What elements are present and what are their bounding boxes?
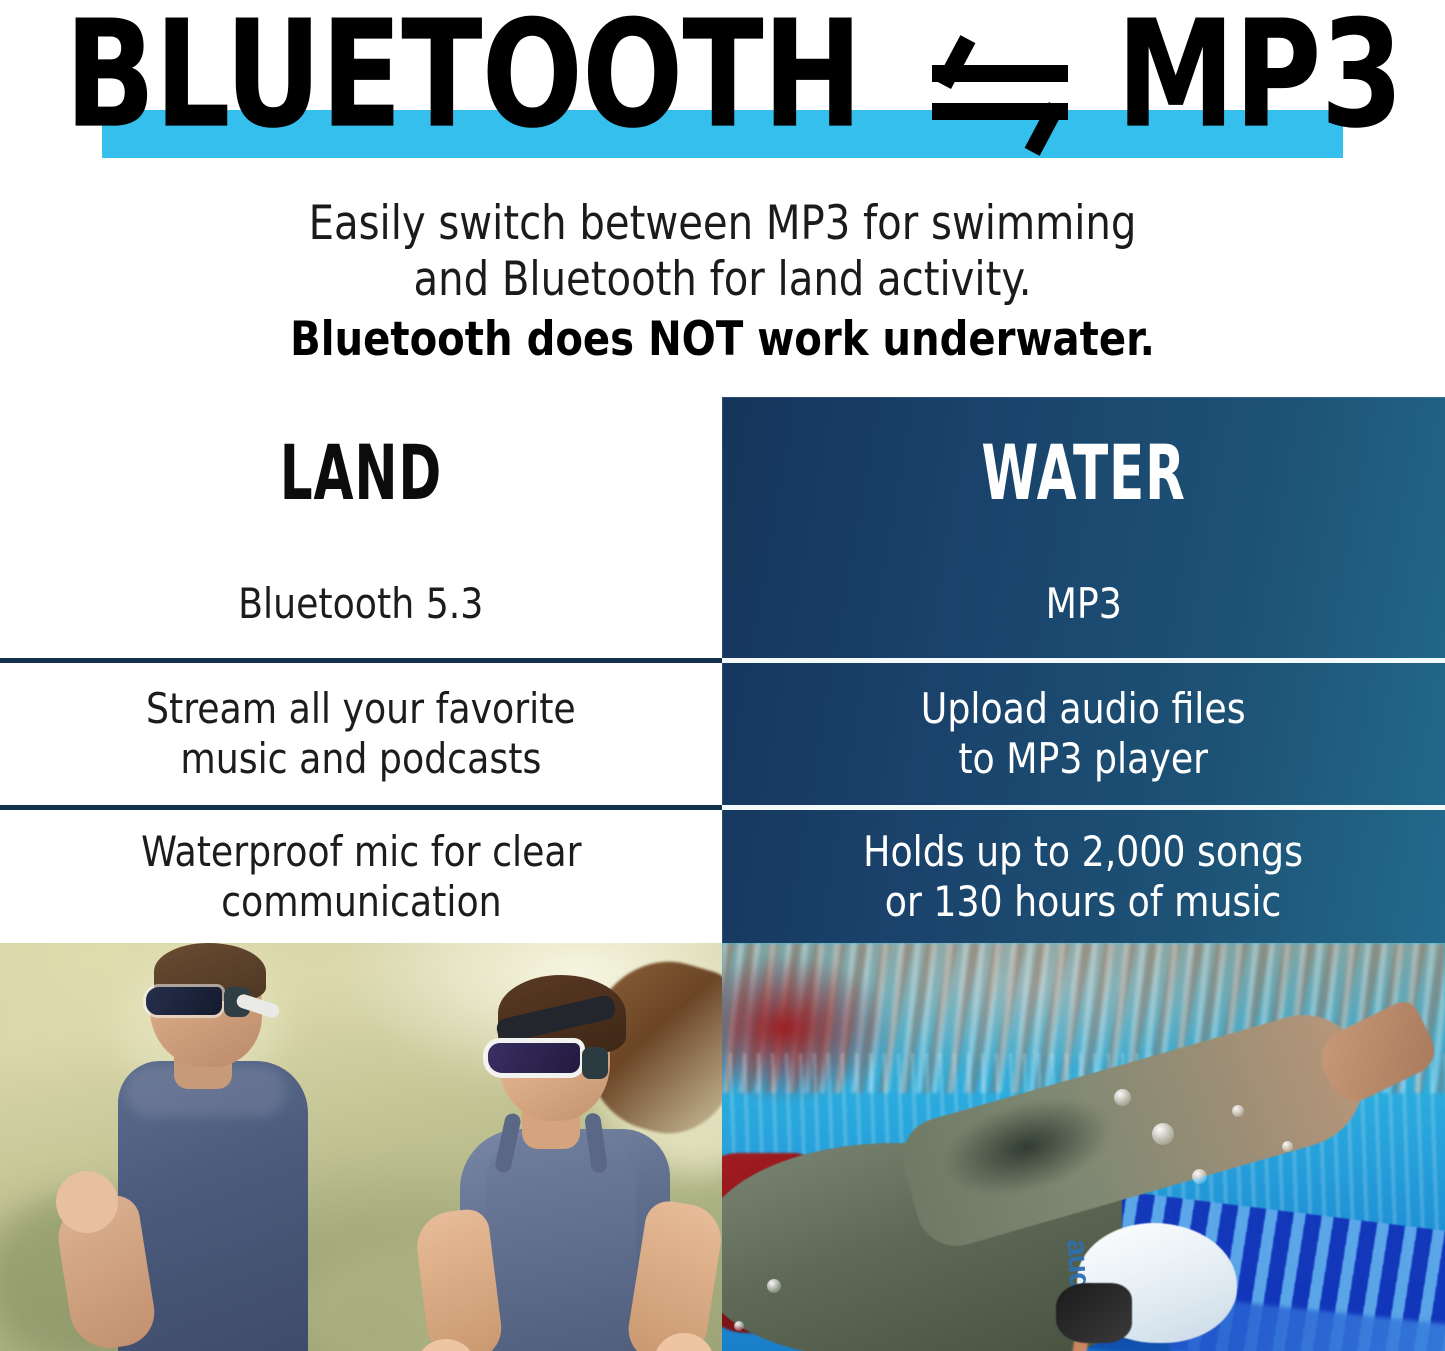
water-row-1-text: MP3 <box>1045 579 1121 628</box>
table-row: Bluetooth 5.3 <box>0 549 722 659</box>
title-left-word: BLUETOOTH <box>65 0 862 149</box>
table-row: MP3 <box>722 549 1445 659</box>
comparison-column-land: LAND Bluetooth 5.3 Stream all your favor… <box>0 397 722 943</box>
column-header-land-label: LAND <box>280 435 442 511</box>
land-row-2-line2: music and podcasts <box>181 734 542 783</box>
table-row: Stream all your favorite music and podca… <box>0 663 722 804</box>
water-lifestyle-photo: audio <box>722 943 1445 1351</box>
subtitle-warning: Bluetooth does NOT work underwater. <box>36 312 1409 368</box>
subtitle-line-2: and Bluetooth for land activity. <box>36 252 1409 308</box>
swim-goggles <box>1056 1283 1132 1343</box>
water-row-3-line1: Holds up to 2,000 songs <box>864 827 1304 876</box>
land-row-2-line1: Stream all your favorite <box>146 684 576 733</box>
land-row-3-line1: Waterproof mic for clear <box>141 827 581 876</box>
photo-strip: audio <box>0 943 1445 1351</box>
water-row-2-line2: to MP3 player <box>959 734 1209 783</box>
swap-arrows-icon <box>924 20 1076 150</box>
water-row-3-line2: or 130 hours of music <box>885 877 1282 926</box>
header-banner: BLUETOOTH MP3 <box>0 0 1445 182</box>
subtitle-block: Easily switch between MP3 for swimming a… <box>0 196 1445 368</box>
title-right-word: MP3 <box>1117 0 1403 149</box>
underwater-swimmer: audio <box>722 1083 1445 1351</box>
table-row: Upload audio files to MP3 player <box>722 663 1445 804</box>
table-row: Holds up to 2,000 songs or 130 hours of … <box>722 810 1445 943</box>
land-row-1-text: Bluetooth 5.3 <box>238 579 483 628</box>
table-row: Waterproof mic for clear communication <box>0 810 722 943</box>
land-row-3-line2: communication <box>221 877 502 926</box>
bone-conduction-headphone <box>582 1047 608 1079</box>
page-title: BLUETOOTH MP3 <box>0 0 1445 160</box>
comparison-table: LAND Bluetooth 5.3 Stream all your favor… <box>0 397 1445 943</box>
subtitle-line-1: Easily switch between MP3 for swimming <box>36 196 1409 252</box>
land-lifestyle-photo <box>0 943 722 1351</box>
column-header-land: LAND <box>0 397 722 549</box>
sunglasses-icon <box>488 1043 580 1073</box>
sunglasses-icon <box>146 987 222 1015</box>
column-header-water: WATER <box>722 397 1445 549</box>
column-header-water-label: WATER <box>981 435 1185 511</box>
comparison-column-water: WATER MP3 Upload audio files to MP3 play… <box>722 397 1445 943</box>
water-row-2-line1: Upload audio files <box>921 684 1246 733</box>
